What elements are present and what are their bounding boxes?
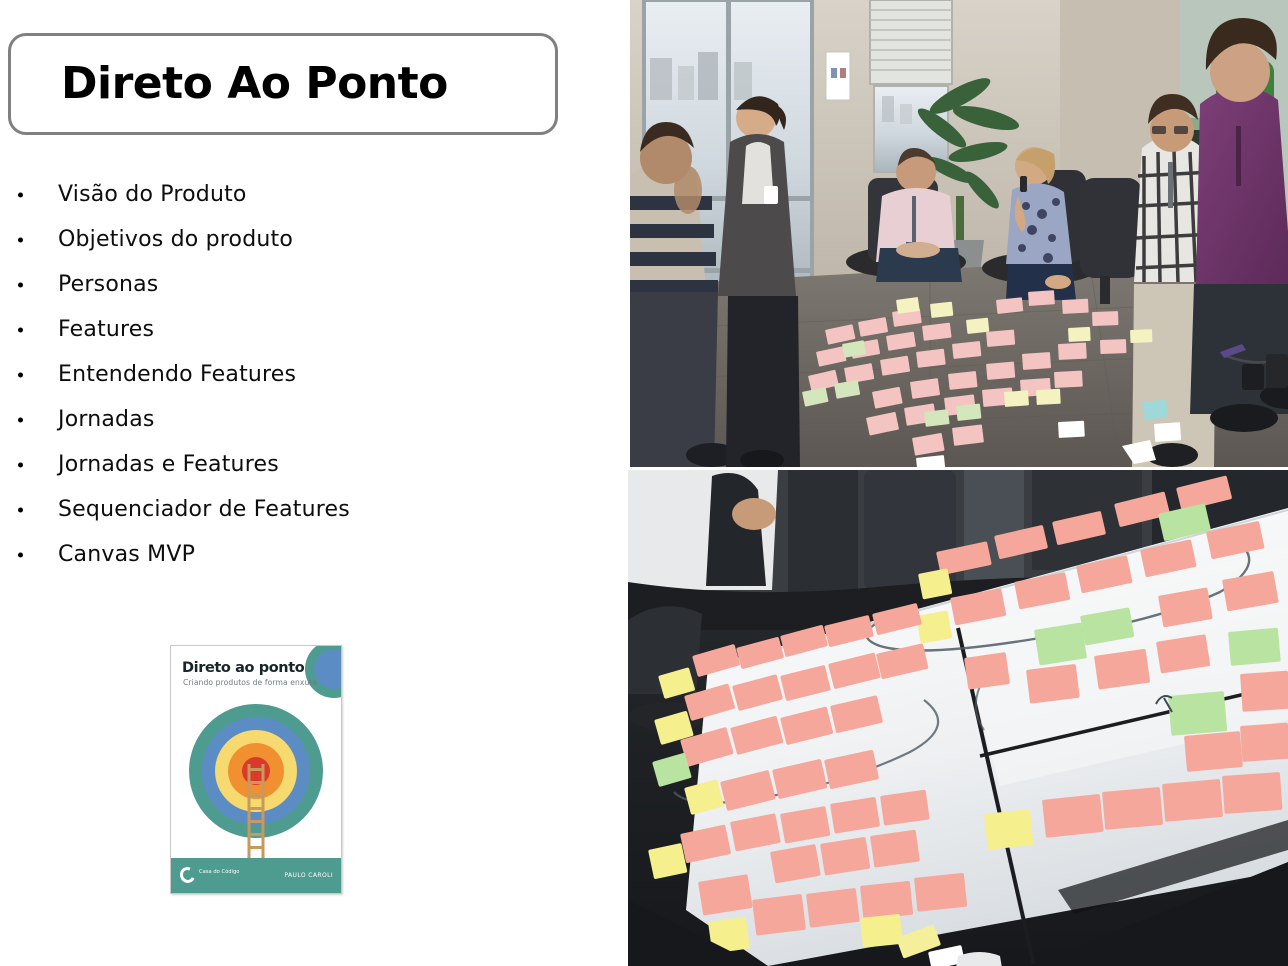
workshop-room-photo bbox=[630, 0, 1288, 467]
left-content-panel: Direto Ao Ponto Visão do Produto Objetiv… bbox=[0, 0, 628, 966]
ladder-rail bbox=[248, 764, 251, 864]
author-label: PAULO CAROLI bbox=[284, 872, 333, 879]
bullet-dot-icon bbox=[18, 192, 23, 197]
page-title: Direto Ao Ponto bbox=[11, 62, 448, 106]
list-item: Jornadas e Features bbox=[0, 442, 600, 487]
agenda-item-label: Personas bbox=[0, 274, 158, 296]
list-item: Personas bbox=[0, 262, 600, 307]
ladder-rung bbox=[248, 768, 265, 771]
ladder-rung bbox=[248, 820, 265, 823]
workshop-room-photo-graphic bbox=[630, 0, 1288, 467]
agenda-list: Visão do Produto Objetivos do produto Pe… bbox=[0, 172, 600, 577]
bullet-dot-icon bbox=[18, 237, 23, 242]
casa-do-codigo-logo-icon bbox=[178, 865, 198, 885]
bullet-dot-icon bbox=[18, 417, 23, 422]
list-item: Visão do Produto bbox=[0, 172, 600, 217]
bullet-dot-icon bbox=[18, 327, 23, 332]
list-item: Objetivos do produto bbox=[0, 217, 600, 262]
ladder-rung bbox=[248, 794, 265, 797]
slide-root: Direto Ao Ponto Visão do Produto Objetiv… bbox=[0, 0, 1288, 966]
publisher-label: Casa do Código bbox=[199, 869, 249, 876]
bullet-dot-icon bbox=[18, 282, 23, 287]
story-map-paper-photo-graphic bbox=[628, 470, 1288, 966]
agenda-item-label: Visão do Produto bbox=[0, 184, 247, 206]
ladder-rung bbox=[248, 807, 265, 810]
book-cover-footer: Casa do Código PAULO CAROLI bbox=[171, 858, 341, 893]
agenda-item-label: Entendendo Features bbox=[0, 364, 296, 386]
list-item: Sequenciador de Features bbox=[0, 487, 600, 532]
bullet-dot-icon bbox=[18, 552, 23, 557]
agenda-item-label: Canvas MVP bbox=[0, 544, 195, 566]
ladder-rung bbox=[248, 846, 265, 849]
book-cover-title: Direto ao ponto bbox=[182, 660, 304, 676]
book-cover-subtitle: Criando produtos de forma enxuta bbox=[183, 678, 317, 687]
bullet-dot-icon bbox=[18, 462, 23, 467]
list-item: Jornadas bbox=[0, 397, 600, 442]
ladder-rung bbox=[248, 781, 265, 784]
list-item: Entendendo Features bbox=[0, 352, 600, 397]
agenda-item-label: Sequenciador de Features bbox=[0, 499, 350, 521]
ladder-graphic bbox=[248, 764, 265, 864]
agenda-item-label: Jornadas bbox=[0, 409, 155, 431]
agenda-item-label: Features bbox=[0, 319, 154, 341]
bullet-dot-icon bbox=[18, 372, 23, 377]
list-item: Features bbox=[0, 307, 600, 352]
agenda-item-label: Objetivos do produto bbox=[0, 229, 293, 251]
list-item: Canvas MVP bbox=[0, 532, 600, 577]
book-cover-image: Direto ao ponto Criando produtos de form… bbox=[170, 645, 342, 894]
cover-corner-circle-decoration bbox=[305, 645, 342, 698]
story-map-paper-photo bbox=[628, 470, 1288, 966]
bullet-dot-icon bbox=[18, 507, 23, 512]
title-box: Direto Ao Ponto bbox=[8, 33, 558, 135]
agenda-item-label: Jornadas e Features bbox=[0, 454, 279, 476]
ladder-rung bbox=[248, 833, 265, 836]
ladder-rail bbox=[262, 764, 265, 864]
